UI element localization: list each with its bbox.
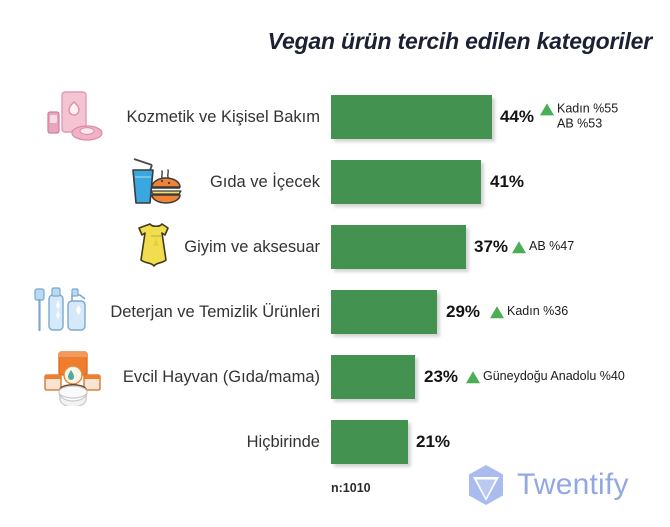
category-label: Kozmetik ve Kişisel Bakım <box>0 107 320 125</box>
bar <box>331 95 492 139</box>
annotation-text: Kadın %36 <box>507 304 568 320</box>
bar-value-label: 21% <box>416 432 450 452</box>
brand-name: Twentify <box>517 468 629 502</box>
category-label: Gıda ve İçecek <box>0 172 320 190</box>
sample-size-note: n:1010 <box>331 481 371 495</box>
page-title: Vegan ürün tercih edilen kategoriler <box>0 28 652 55</box>
chart-row: Kozmetik ve Kişisel Bakım 44% Kadın %55 … <box>0 84 670 149</box>
annotation-line: Güneydoğu Anadolu %40 <box>483 369 625 385</box>
bar-value-label: 23% <box>424 367 458 387</box>
annotation-line: Kadın %36 <box>507 304 568 320</box>
twentify-hexagon-icon <box>463 462 509 508</box>
triangle-up-icon <box>466 371 480 383</box>
annotation-line: Kadın %55 <box>557 101 618 117</box>
annotation-group: Güneydoğu Anadolu %40 <box>466 369 625 385</box>
category-label: Deterjan ve Temizlik Ürünleri <box>0 302 320 320</box>
bar-value-label: 29% <box>446 302 480 322</box>
annotation-text: AB %47 <box>529 239 574 255</box>
bar <box>331 160 481 204</box>
bar-chart: Kozmetik ve Kişisel Bakım 44% Kadın %55 … <box>0 84 670 474</box>
bar <box>331 420 408 464</box>
bar-value-label: 37% <box>474 237 508 257</box>
category-label: Evcil Hayvan (Gıda/mama) <box>0 367 320 385</box>
annotation-group: AB %47 <box>512 239 574 255</box>
annotation-text: Kadın %55 AB %53 <box>557 101 618 132</box>
chart-row: Giyim ve aksesuar 37% AB %47 <box>0 214 670 279</box>
chart-row: Deterjan ve Temizlik Ürünleri 29% Kadın … <box>0 279 670 344</box>
annotation-line: AB %47 <box>529 239 574 255</box>
annotation-group: Kadın %55 AB %53 <box>540 101 618 132</box>
annotation-text: Güneydoğu Anadolu %40 <box>483 369 625 385</box>
bar <box>331 355 415 399</box>
annotation-line: AB %53 <box>557 117 618 133</box>
category-label: Hiçbirinde <box>0 432 320 450</box>
triangle-up-icon <box>540 103 554 115</box>
bar-value-label: 44% <box>500 107 534 127</box>
chart-row: Gıda ve İçecek 41% <box>0 149 670 214</box>
category-label: Giyim ve aksesuar <box>0 237 320 255</box>
bar-value-label: 41% <box>490 172 524 192</box>
triangle-up-icon <box>512 241 526 253</box>
brand-logo: Twentify <box>463 462 629 508</box>
infographic-canvas: Vegan ürün tercih edilen kategoriler Koz… <box>0 0 670 527</box>
bar <box>331 225 466 269</box>
triangle-up-icon <box>490 306 504 318</box>
bar <box>331 290 437 334</box>
chart-row: Evcil Hayvan (Gıda/mama) 23% Güneydoğu A… <box>0 344 670 409</box>
annotation-group: Kadın %36 <box>490 304 568 320</box>
